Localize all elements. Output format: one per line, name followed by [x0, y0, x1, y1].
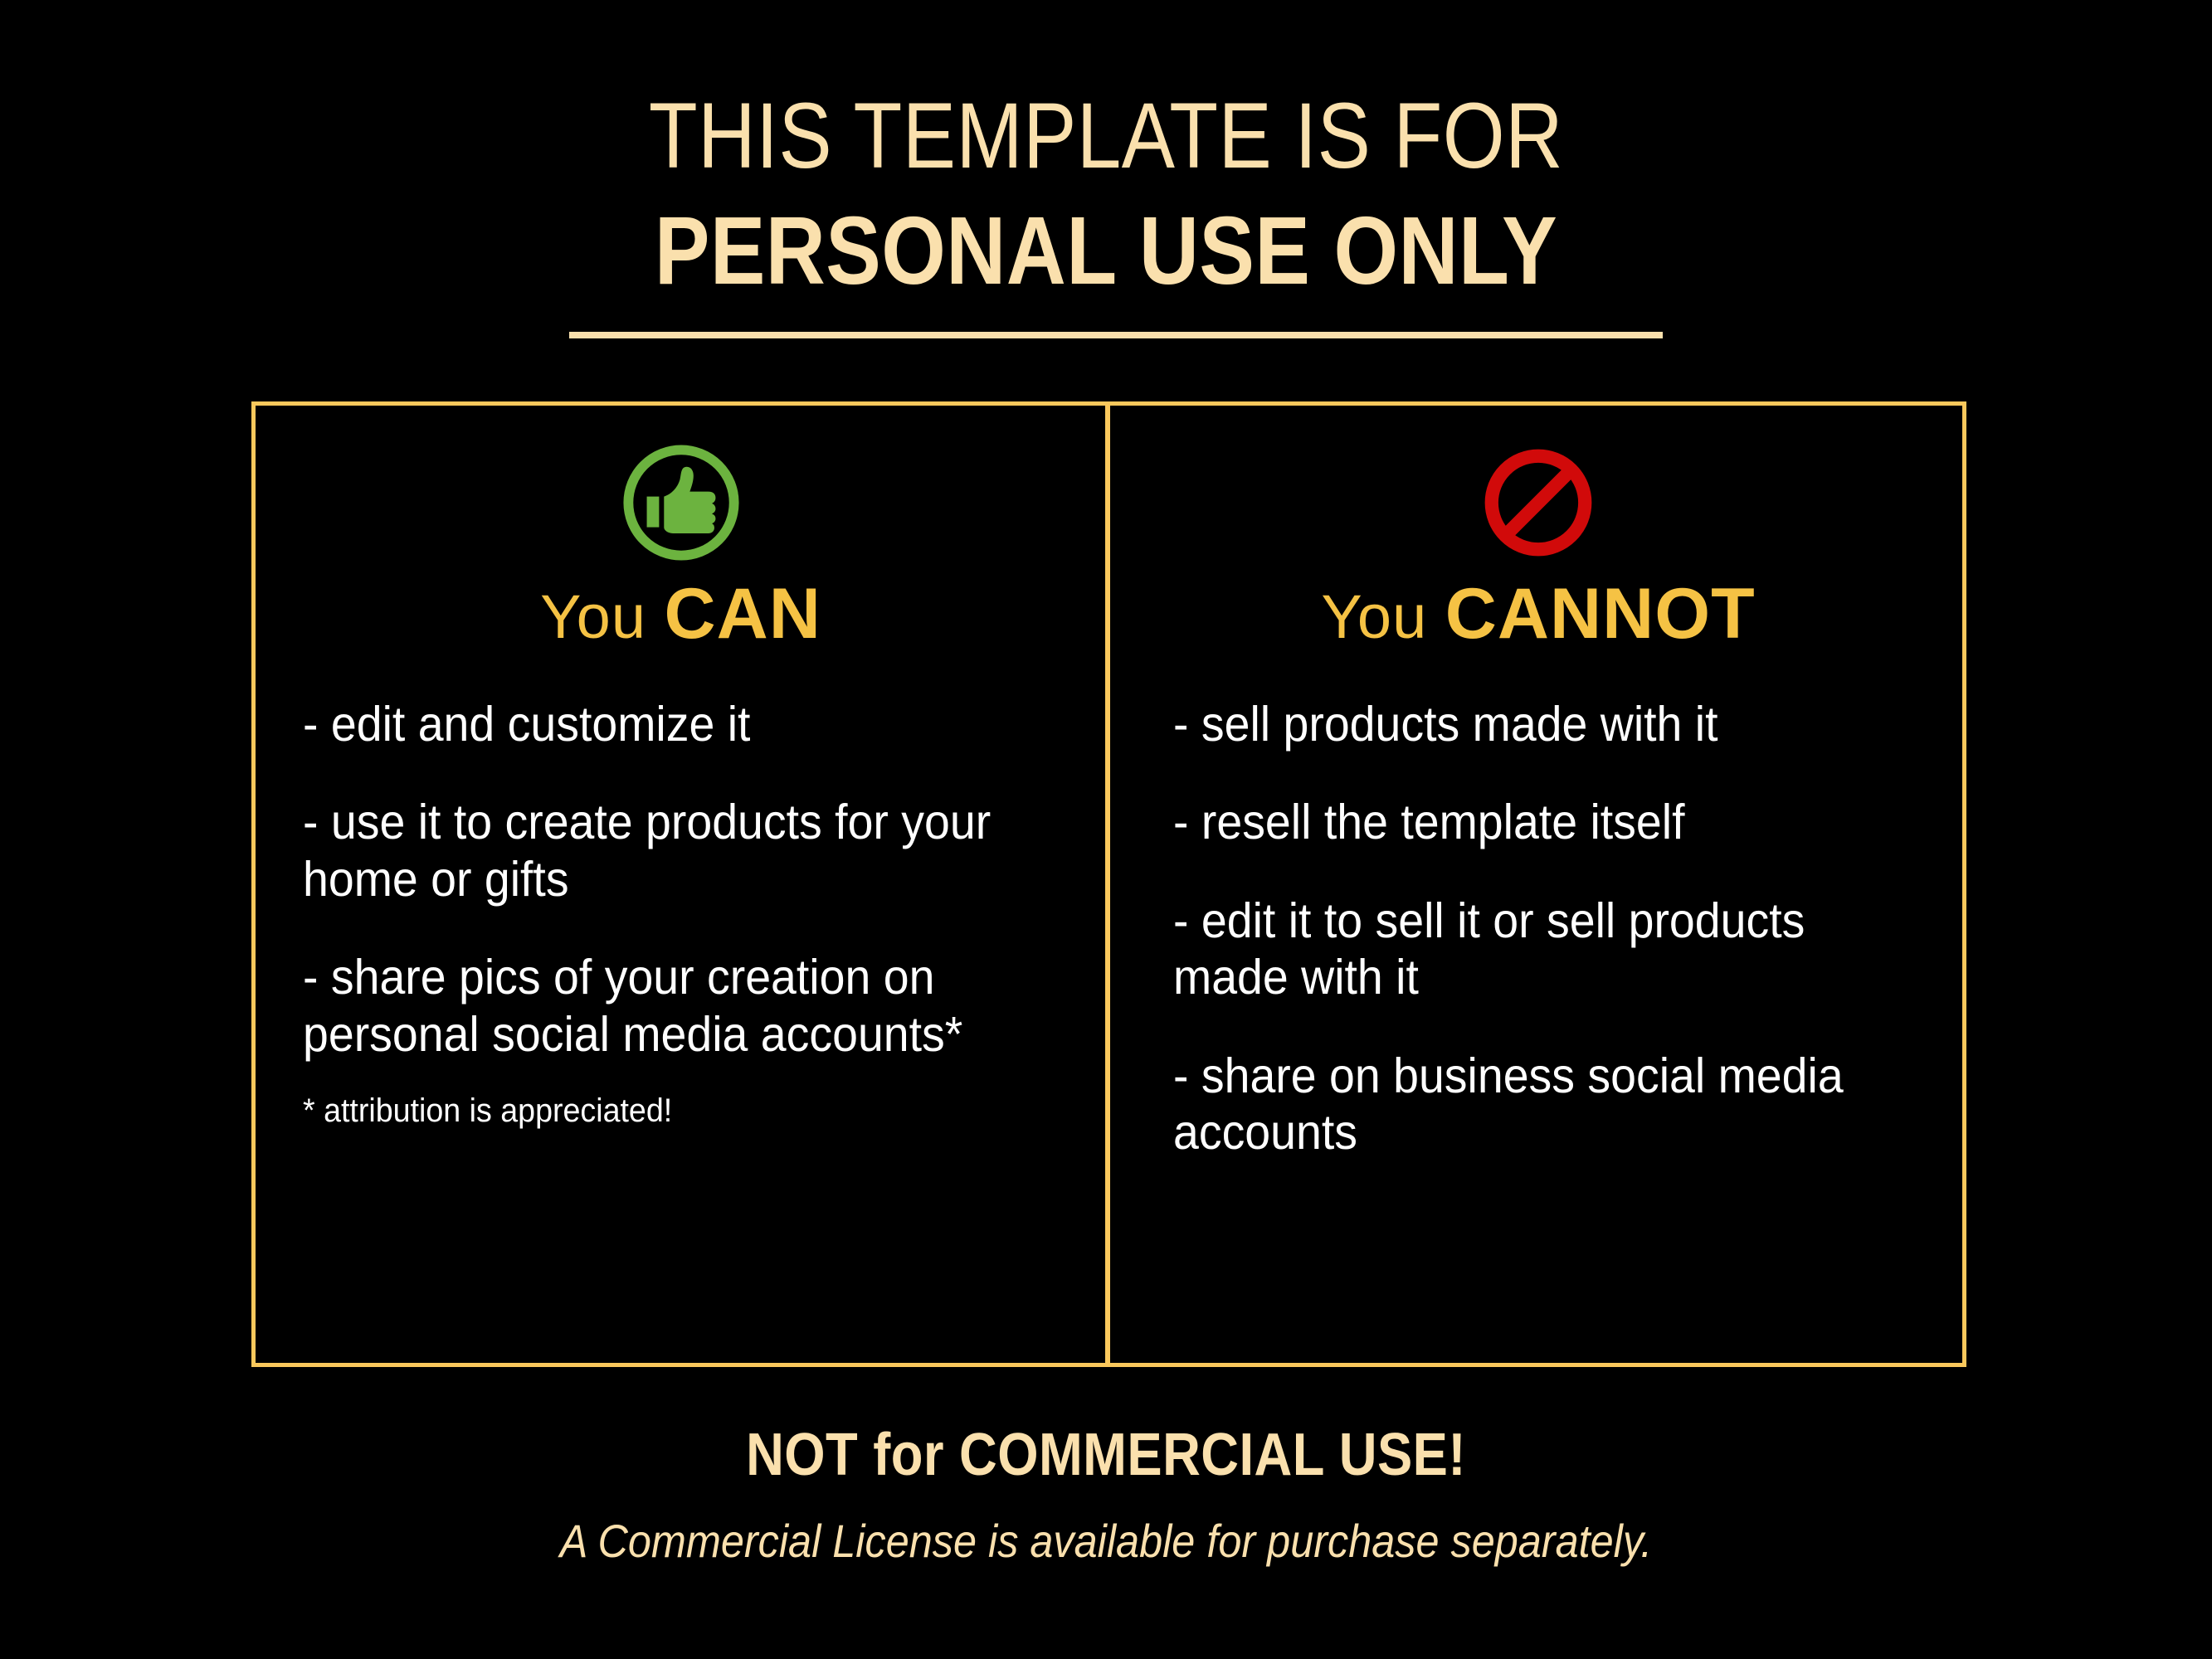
heading-you-can-prefix: You [540, 582, 664, 651]
heading-you-can-emphasis: CAN [665, 574, 821, 654]
footer: NOT for COMMERCIAL USE! A Commercial Lic… [0, 1425, 2212, 1564]
list-item: - share pics of your creation on persona… [303, 949, 1040, 1063]
list-item: - share on business social media account… [1173, 1048, 1897, 1161]
column-you-can: You CAN - edit and customize it - use it… [251, 401, 1110, 1367]
footer-subtext: A Commercial License is available for pu… [110, 1518, 2101, 1564]
list-item: - resell the template itself [1173, 794, 1897, 850]
list-item: - use it to create products for your hom… [303, 794, 1040, 907]
heading-you-can: You CAN [251, 578, 1110, 649]
thumbs-up-icon [620, 441, 743, 564]
page-title: THIS TEMPLATE IS FOR PERSONAL USE ONLY [0, 90, 2212, 299]
title-line-primary: THIS TEMPLATE IS FOR [155, 90, 2058, 182]
list-item: - sell products made with it [1173, 696, 1897, 752]
title-underline-rule [569, 332, 1663, 338]
list-you-cannot: - sell products made with it - resell th… [1110, 696, 1966, 1203]
heading-you-cannot-prefix: You [1321, 582, 1445, 651]
footer-headline: NOT for COMMERCIAL USE! [133, 1425, 2079, 1485]
prohibited-icon [1477, 441, 1600, 564]
list-item: - edit and customize it [303, 696, 1040, 752]
list-item: - edit it to sell it or sell products ma… [1173, 893, 1897, 1006]
heading-you-cannot-emphasis: CANNOT [1445, 574, 1756, 654]
title-line-emphasis: PERSONAL USE ONLY [155, 202, 2058, 299]
attribution-footnote: * attribution is appreciated! [303, 1092, 1040, 1129]
list-you-can: - edit and customize it - use it to crea… [251, 696, 1110, 1129]
thumbs-up-icon-wrap [251, 441, 1110, 574]
column-you-cannot: You CANNOT - sell products made with it … [1110, 401, 1966, 1367]
heading-you-cannot: You CANNOT [1110, 578, 1966, 649]
prohibited-icon-wrap [1110, 441, 1966, 574]
